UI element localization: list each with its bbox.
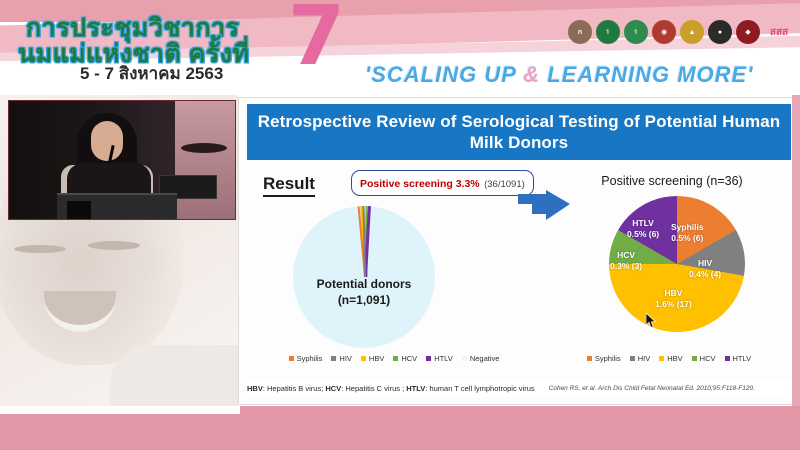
child-eye-right <box>88 241 140 250</box>
mouse-cursor-icon <box>646 313 657 328</box>
source-citation: Cohen RS, et al. Arch Dis Child Fetal Ne… <box>549 385 755 392</box>
legend-label: HBV <box>369 354 384 363</box>
logo-health-green-2: ⚕ <box>624 20 648 44</box>
abbreviation-key: HBV: Hepatitis B virus; HCV: Hepatitis C… <box>247 384 535 393</box>
pie-slice-label-hcv: HCV0.3% (3) <box>610 250 642 272</box>
positive-screening-heading: Positive screening (n=36) <box>557 174 787 188</box>
legend-item-hcv: HCV <box>393 354 417 363</box>
conference-header-banner: การประชุมวิชาการ นมแม่แห่งชาติ ครั้งที่ … <box>0 0 800 95</box>
legend-swatch-hcv <box>393 356 398 361</box>
child-shoulder <box>110 345 238 415</box>
legend-label: HIV <box>638 354 651 363</box>
legend-swatch-hbv <box>659 356 664 361</box>
pie-slice-label-htlv: HTLV0.5% (6) <box>627 218 659 240</box>
slice-value: 0.5% (6) <box>627 229 659 240</box>
slice-value: 0.4% (4) <box>689 269 721 280</box>
legend-item-syphilis: Syphilis <box>289 354 323 363</box>
conference-tagline: 'SCALING UP & LEARNING MORE' <box>365 62 753 88</box>
legend-swatch-syphilis <box>289 356 294 361</box>
legend-label: HBV <box>667 354 682 363</box>
presentation-slide: Retrospective Review of Serological Test… <box>238 97 800 405</box>
logo-maroon-seal: ◆ <box>736 20 760 44</box>
callout-fraction: (36/1091) <box>484 179 525 190</box>
slide-title-bar: Retrospective Review of Serological Test… <box>247 104 791 160</box>
slice-value: 0.5% (6) <box>671 233 704 244</box>
conference-date: 5 - 7 สิงหาคม 2563 <box>80 60 223 87</box>
logo-black-seal: ● <box>708 20 732 44</box>
legend-label: HIV <box>339 354 352 363</box>
slice-value: 0.3% (3) <box>610 261 642 272</box>
tagline-ampersand: & <box>523 62 540 87</box>
presenter-video-inset[interactable] <box>8 100 236 220</box>
legend-swatch-htlv <box>426 356 431 361</box>
fn-htlv-key: HTLV <box>406 384 425 393</box>
bottom-white-gap <box>0 406 240 414</box>
child-eye-left <box>14 245 66 253</box>
legend-swatch-syphilis <box>587 356 592 361</box>
presenter-face <box>91 121 123 161</box>
legend-item-htlv: HTLV <box>426 354 453 363</box>
conference-edition-number: 7 <box>288 0 345 78</box>
slice-name: Syphilis <box>671 222 704 233</box>
legend-potential-donors: SyphilisHIVHBVHCVHTLVNegative <box>269 354 519 363</box>
slice-value: 1.6% (17) <box>655 299 692 310</box>
logo-ministry-red: ◉ <box>652 20 676 44</box>
legend-label: HCV <box>700 354 716 363</box>
slice-name: HTLV <box>627 218 659 229</box>
potential-donors-label-line2: (n=1,091) <box>261 292 467 308</box>
legend-item-hiv: HIV <box>630 354 651 363</box>
slice-name: HBV <box>655 288 692 299</box>
pie-slice-label-hbv: HBV1.6% (17) <box>655 288 692 310</box>
slide-screenshot: การประชุมวิชาการ นมแม่แห่งชาติ ครั้งที่ … <box>0 0 800 450</box>
legend-item-hbv: HBV <box>361 354 384 363</box>
logo-health-green-1: ⚕ <box>596 20 620 44</box>
fn-hbv-def: : Hepatitis B virus; <box>263 384 326 393</box>
potential-donors-chart: Potential donors (n=1,091) <box>261 206 491 351</box>
projected-side-image <box>175 101 235 219</box>
legend-swatch-negative <box>462 356 467 361</box>
legend-item-hbv: HBV <box>659 354 682 363</box>
logo-sss-pink: สสส <box>764 20 794 44</box>
logo-thai-emblem: ▲ <box>680 20 704 44</box>
potential-donors-label: Potential donors (n=1,091) <box>261 276 467 308</box>
pie-slice-label-hiv: HIV0.4% (4) <box>689 258 721 280</box>
fn-htlv-def: : human T cell lymphotropic virus <box>425 384 534 393</box>
legend-swatch-hbv <box>361 356 366 361</box>
legend-label: Syphilis <box>595 354 621 363</box>
legend-label: HTLV <box>434 354 453 363</box>
tagline-part-1: 'SCALING UP <box>365 62 523 87</box>
legend-swatch-hcv <box>692 356 697 361</box>
sponsor-logo-row: ก⚕⚕◉▲●◆สสส <box>568 20 794 44</box>
fn-hcv-key: HCV <box>325 384 341 393</box>
callout-percentage: Positive screening 3.3% <box>360 178 480 190</box>
slice-name: HIV <box>689 258 721 269</box>
legend-label: HCV <box>401 354 417 363</box>
slide-title: Retrospective Review of Serological Test… <box>247 111 791 154</box>
fn-hcv-def: : Hepatitis C virus ; <box>341 384 406 393</box>
legend-item-hiv: HIV <box>331 354 352 363</box>
logo-royal-seal: ก <box>568 20 592 44</box>
legend-swatch-htlv <box>725 356 730 361</box>
positive-screening-pie: Syphilis0.5% (6)HIV0.4% (4)HBV1.6% (17)H… <box>609 196 745 332</box>
positive-screening-callout: Positive screening 3.3% (36/1091) <box>351 170 534 196</box>
legend-label: HTLV <box>733 354 752 363</box>
legend-item-negative: Negative <box>462 354 500 363</box>
tagline-part-2: LEARNING MORE' <box>540 62 753 87</box>
blue-arrow-icon <box>516 190 572 234</box>
legend-item-hcv: HCV <box>692 354 716 363</box>
legend-label: Negative <box>470 354 500 363</box>
legend-positive-screening: SyphilisHIVHBVHCVHTLV <box>549 354 789 363</box>
slice-name: HCV <box>610 250 642 261</box>
legend-swatch-hiv <box>630 356 635 361</box>
result-heading: Result <box>263 174 315 197</box>
fn-hbv-key: HBV <box>247 384 263 393</box>
pie-slice-label-syphilis: Syphilis0.5% (6) <box>671 222 704 244</box>
legend-label: Syphilis <box>297 354 323 363</box>
slide-footnote: HBV: Hepatitis B virus; HCV: Hepatitis C… <box>247 380 791 397</box>
podium-panel <box>67 201 91 219</box>
potential-donors-label-line1: Potential donors <box>261 276 467 292</box>
legend-item-syphilis: Syphilis <box>587 354 621 363</box>
legend-item-htlv: HTLV <box>725 354 752 363</box>
legend-swatch-hiv <box>331 356 336 361</box>
slide-right-pink-strip <box>792 95 800 406</box>
